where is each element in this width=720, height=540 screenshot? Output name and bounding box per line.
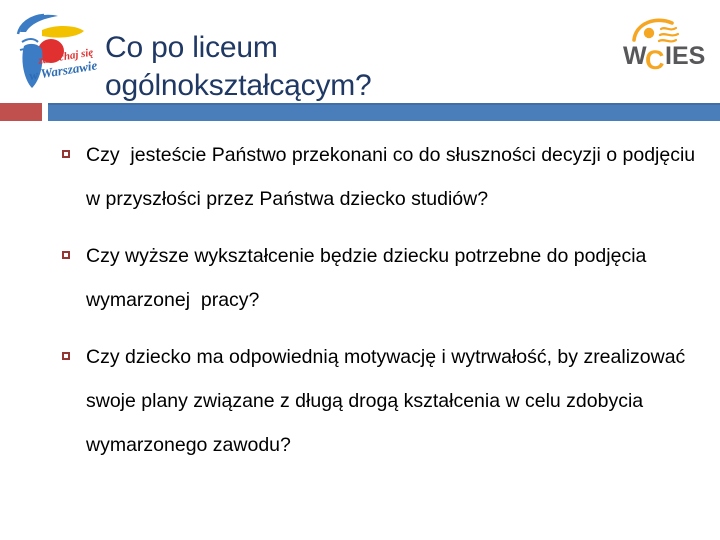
wcies-dot-icon xyxy=(644,28,654,38)
list-item: Czy dziecko ma odpowiednią motywację i w… xyxy=(58,335,698,467)
square-bullet-icon xyxy=(62,352,70,360)
list-item-text: Czy dziecko ma odpowiednią motywację i w… xyxy=(86,335,698,467)
square-bullet-icon xyxy=(62,150,70,158)
list-item-text: Czy wyższe wykształcenie będzie dziecku … xyxy=(86,234,698,322)
divider-accent-red xyxy=(0,103,42,121)
page-title: Co po liceum ogólnokształcącym? xyxy=(105,29,605,105)
slide-header: zakochaj się w Warszawie Co po liceum og… xyxy=(0,0,720,103)
list-item: Czy wyższe wykształcenie będzie dziecku … xyxy=(58,234,698,322)
bullet-list: Czy jesteście Państwo przekonani co do s… xyxy=(58,133,698,467)
divider-bar-blue xyxy=(48,103,720,121)
list-item-text: Czy jesteście Państwo przekonani co do s… xyxy=(86,133,698,221)
wcies-letters-ies: IES xyxy=(665,42,705,70)
presentation-slide: zakochaj się w Warszawie Co po liceum og… xyxy=(0,0,720,540)
list-item: Czy jesteście Państwo przekonani co do s… xyxy=(58,133,698,221)
square-bullet-icon xyxy=(62,251,70,259)
wcies-logo: W C IES xyxy=(620,14,712,80)
zakochaj-sie-w-warszawie-logo: zakochaj się w Warszawie xyxy=(6,6,98,96)
wcies-letter-w: W xyxy=(623,42,647,70)
wcies-letter-c: C xyxy=(645,45,665,75)
